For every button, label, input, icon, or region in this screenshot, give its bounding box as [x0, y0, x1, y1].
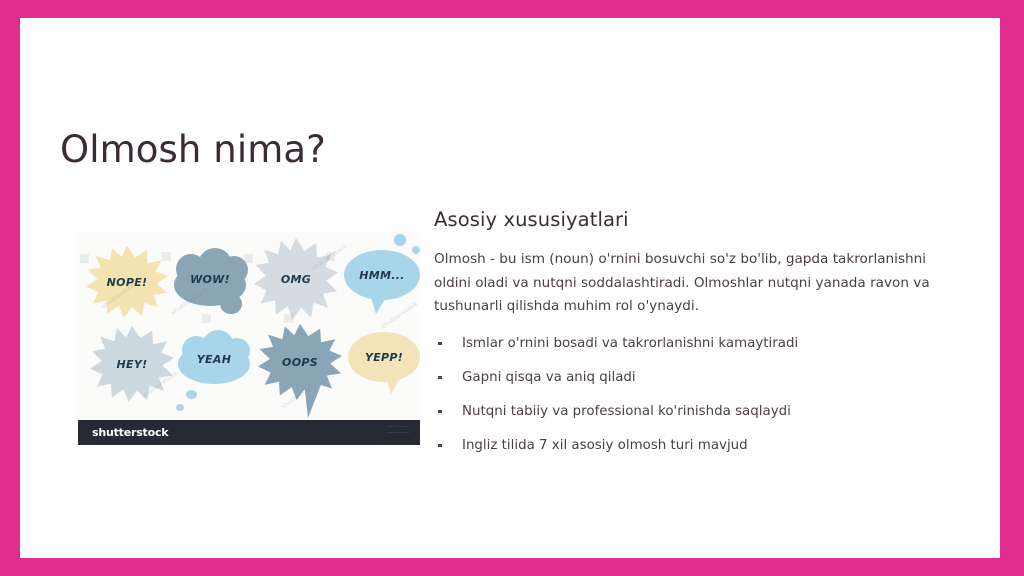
bubble-dot: [176, 404, 184, 411]
bubble-wow: WOW!: [170, 248, 250, 310]
watermark-square: [326, 252, 335, 261]
bubble-dot: [412, 246, 420, 254]
watermark-id-line-2: ················: [387, 430, 410, 436]
list-item-label: Ingliz tilida 7 xil asosiy olmosh turi m…: [462, 438, 748, 453]
bubble-hey: HEY!: [90, 326, 174, 402]
bubble-label: HMM...: [359, 269, 404, 282]
watermark-square: [202, 314, 211, 323]
bullet-icon: [438, 342, 442, 346]
bullet-list: Ismlar o'rnini bosadi va takrorlanishni …: [434, 335, 960, 455]
shutterstock-logo: shutterstock: [92, 426, 168, 439]
slide-frame: Olmosh nima? NOPE!: [0, 0, 1024, 576]
watermark-square: [244, 254, 253, 263]
bubble-omg: OMG: [254, 238, 338, 320]
slide-canvas: Olmosh nima? NOPE!: [20, 18, 1000, 558]
watermark-square: [80, 254, 89, 263]
speech-bubbles-illustration: NOPE! WOW! OMG: [78, 232, 420, 445]
bullet-icon: [438, 376, 442, 380]
bubble-tail-yepp: [386, 376, 401, 394]
list-item-label: Nutqni tabiiy va professional ko'rinishd…: [462, 404, 791, 419]
watermark-image-id: ····· ·· ······· ················: [387, 424, 410, 436]
list-item-label: Ismlar o'rnini bosadi va takrorlanishni …: [462, 336, 798, 351]
list-item: Nutqni tabiiy va professional ko'rinishd…: [434, 403, 960, 421]
bubble-label: YEAH: [197, 353, 231, 366]
page-title: Olmosh nima?: [60, 128, 326, 171]
section-heading: Asosiy xususiyatlari: [434, 208, 960, 231]
watermark-square: [284, 314, 293, 323]
bubble-tail-hmm: [370, 294, 388, 314]
bubble-label: HEY!: [117, 358, 148, 371]
bubble-label: WOW!: [190, 273, 230, 286]
list-item: Gapni qisqa va aniq qiladi: [434, 369, 960, 387]
bubble-nope: NOPE!: [86, 246, 168, 318]
bubble-oops: OOPS: [258, 324, 342, 400]
list-item: Ismlar o'rnini bosadi va takrorlanishni …: [434, 335, 960, 353]
bubble-yeah: YEAH: [174, 330, 254, 388]
bubbles-area: NOPE! WOW! OMG: [78, 232, 420, 420]
bubble-label: OOPS: [282, 356, 318, 369]
bubble-yepp: YEPP!: [348, 332, 420, 382]
bubble-label: OMG: [281, 273, 311, 286]
list-item-label: Gapni qisqa va aniq qiladi: [462, 370, 636, 385]
bubble-dot: [394, 234, 406, 246]
bullet-icon: [438, 444, 442, 448]
watermark-square: [162, 252, 171, 261]
bubble-hmm: HMM...: [344, 250, 420, 300]
bubble-dot: [186, 390, 197, 399]
shutterstock-watermark-bar: shutterstock ····· ·· ······· ··········…: [78, 420, 420, 445]
list-item: Ingliz tilida 7 xil asosiy olmosh turi m…: [434, 437, 960, 455]
bubble-label: YEPP!: [365, 351, 403, 364]
content-column: Asosiy xususiyatlari Olmosh - bu ism (no…: [434, 208, 960, 471]
bullet-icon: [438, 410, 442, 414]
body-paragraph: Olmosh - bu ism (noun) o'rnini bosuvchi …: [434, 248, 960, 319]
